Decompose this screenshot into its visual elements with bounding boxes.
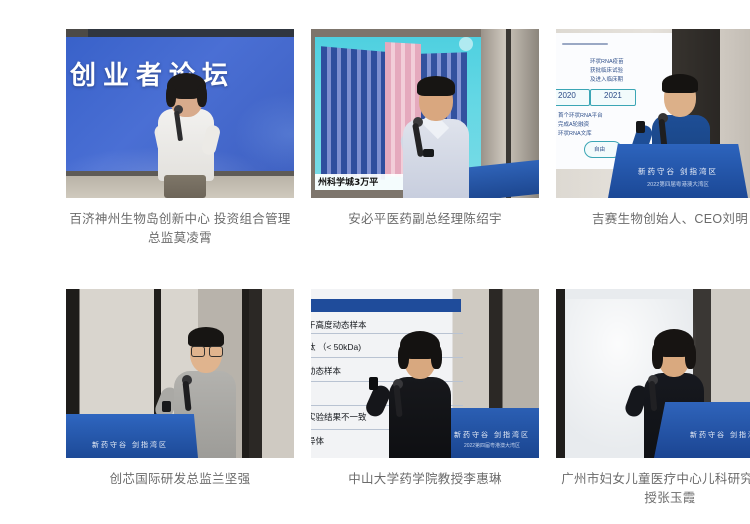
slide-pill-label: 自由 <box>594 145 605 153</box>
speaker-photo-2[interactable]: 州科学城3万平 <box>311 29 539 198</box>
timeline-year-right: 2021 <box>604 91 622 100</box>
slide-row-text: 动态样本 <box>311 365 341 377</box>
building-left <box>321 46 385 180</box>
slide-note-2: 获批临床试验 <box>590 66 623 74</box>
podium-line-2: 2022第四届粤港澳大湾区 <box>443 442 539 449</box>
podium-line-1: 新药守谷 剑指湾区 <box>668 430 750 440</box>
gallery-item-caption: 中山大学药学院教授李惠琳 <box>314 470 536 489</box>
slide-note-3: 及进入临床期 <box>590 75 623 83</box>
speaker-photo-3[interactable]: 环状RNA疫苗 获批临床试验 及进入临床期 2020 2021 首个环状RNA平… <box>556 29 750 198</box>
speaker-hair <box>188 327 224 347</box>
podium-line-1: 新药守谷 剑指湾区 <box>66 440 198 450</box>
slide-caption-text: 州科学城3万平 <box>318 175 378 188</box>
slide-row-text: 肽 （< 50kDa) <box>311 341 361 353</box>
slide-row-divider <box>311 333 463 334</box>
gallery-item-caption: 百济神州生物岛创新中心 投资组合管理总监莫凌霄 <box>69 210 291 248</box>
image-gallery-grid: 创业者论坛 百济神州生物岛创新中心 投资组合管理总监莫凌霄 州科学城3万平 <box>0 0 750 524</box>
speaker-photo-6[interactable]: 新药守谷 剑指湾区 <box>556 289 750 458</box>
podium: 新药守谷 剑指湾区 2022第四届粤港澳大湾区 <box>608 144 748 198</box>
gallery-item[interactable]: 创业者论坛 百济神州生物岛创新中心 投资组合管理总监莫凌霄 <box>66 29 294 248</box>
slide-note-5: 完成A轮融资 <box>558 120 589 128</box>
slide-note-4: 首个环状RNA平台 <box>558 111 603 119</box>
speaker-hair-side-left <box>398 345 409 369</box>
slide-logo-icon <box>459 37 473 51</box>
glasses-lens-right-icon <box>209 346 223 357</box>
wall-pillar-2 <box>242 289 249 458</box>
podium-line-1: 新药守谷 剑指湾区 <box>608 166 748 177</box>
slide-row-text: 异体 <box>311 435 324 447</box>
speaker-hair-side-right <box>197 85 207 107</box>
speaker-hair-side-left <box>652 343 663 369</box>
gallery-item[interactable]: 环状RNA疫苗 获批临床试验 及进入临床期 2020 2021 首个环状RNA平… <box>556 29 750 248</box>
speaker-hair <box>417 76 455 96</box>
wristwatch <box>423 149 434 157</box>
speaker-hair-side-left <box>166 85 176 107</box>
presenter-clicker <box>162 401 171 412</box>
gallery-item[interactable]: 州科学城3万平 安必平医药副总经理陈绍宇 <box>311 29 539 248</box>
gallery-item-caption: 创芯国际研发总监兰坚强 <box>69 470 291 489</box>
gallery-item-caption: 广州市妇女儿童医疗中心儿科研究所教授张玉霞 <box>559 470 750 508</box>
presenter-clicker <box>369 377 378 390</box>
podium: 新药守谷 剑指湾区 <box>654 402 750 458</box>
speaker-photo-1[interactable]: 创业者论坛 <box>66 29 294 198</box>
presenter-clicker <box>636 121 645 133</box>
slide-header-bar <box>311 299 461 312</box>
gallery-item-caption: 吉赛生物创始人、CEO刘明 <box>559 210 750 229</box>
podium-line-1: 新药守谷 剑指湾区 <box>443 430 539 440</box>
speaker-photo-4[interactable]: 新药守谷 剑指湾区 <box>66 289 294 458</box>
slide-note-1: 环状RNA疫苗 <box>590 57 624 65</box>
glasses-lens-left-icon <box>191 346 205 357</box>
podium-line-2: 2022第四届粤港澳大湾区 <box>608 180 748 188</box>
gallery-item[interactable]: 新药守谷 剑指湾区 广州市妇女儿童医疗中心儿科研究所教授张玉霞 <box>556 289 750 508</box>
screen-title-text: 创业者论坛 <box>70 55 235 92</box>
speaker-hair <box>662 74 698 93</box>
slide-row-text: 实验结果不一致 <box>311 411 367 423</box>
slide-row-text: 于高度动态样本 <box>311 319 367 331</box>
slide-note-6: 环状RNA文库 <box>558 129 592 137</box>
speaker-photo-5-cell[interactable]: 于高度动态样本 肽 （< 50kDa) 动态样本 实验结果不一致 异体 新药守谷… <box>311 289 539 508</box>
speaker-hair-side-right <box>431 345 442 369</box>
slide-rule <box>562 43 608 45</box>
gallery-item-caption: 安必平医药副总经理陈绍宇 <box>314 210 536 229</box>
timeline-year-left: 2020 <box>558 91 576 100</box>
speaker-legs <box>164 175 206 198</box>
podium: 新药守谷 剑指湾区 <box>66 414 198 458</box>
speaker-photo-5[interactable]: 于高度动态样本 肽 （< 50kDa) 动态样本 实验结果不一致 异体 新药守谷… <box>311 289 539 458</box>
speaker-hair-side-right <box>685 343 696 369</box>
gallery-item[interactable]: 新药守谷 剑指湾区 创芯国际研发总监兰坚强 <box>66 289 294 508</box>
